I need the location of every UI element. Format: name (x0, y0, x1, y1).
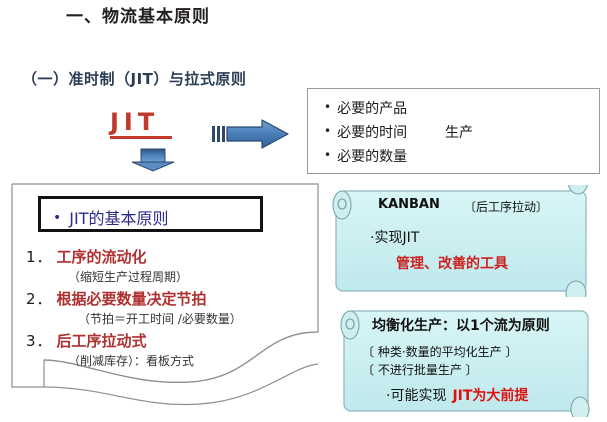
jit-underline (110, 136, 172, 139)
principle-item-2: 2．根据必要数量决定节拍 (26, 288, 207, 309)
leveled-production-box: 均衡化生产：以1个流为原则 〔 种类·数量的平均化生产 〕 〔 不进行批量生产 … (334, 305, 594, 417)
requirement-item: •必要的产品 (324, 98, 407, 118)
production-label: 生产 (445, 122, 473, 142)
jit-basic-principle-box: •JIT的基本原则 (38, 196, 263, 232)
leveled-production-bracket-2: 〔 不进行批量生产 〕 (362, 361, 478, 378)
requirement-item: •必要的数量 (324, 146, 407, 166)
jit-principles-document: •JIT的基本原则 1．工序的流动化 （缩短生产过程周期） 2．根据必要数量决定… (10, 182, 320, 412)
jit-basic-principle-label: •JIT的基本原则 (53, 205, 168, 229)
kanban-title: KANBAN (378, 197, 440, 212)
kanban-line-1: ·实现JIT (370, 227, 419, 247)
principle-note-1: （缩短生产过程周期） (68, 268, 188, 285)
principle-item-1: 1．工序的流动化 (26, 246, 147, 267)
bullet-icon: • (324, 100, 331, 114)
principle-item-3: 3．后工序拉动式 (26, 330, 147, 351)
principle-note-3: （削减库存）：看板方式 (68, 352, 194, 369)
leveled-production-title: 均衡化生产：以1个流为原则 (372, 315, 550, 335)
slide-canvas: 一、物流基本原则 （一）准时制（JIT）与拉式原则 JIT (0, 0, 607, 422)
kanban-box: KANBAN 〔后工序拉动〕 ·实现JIT 管理、改善的工具 (326, 185, 594, 297)
page-title: 一、物流基本原则 (66, 2, 210, 27)
bullet-icon: • (324, 148, 331, 162)
bullet-icon: • (324, 124, 331, 138)
principle-note-2: （节拍＝开工时间 /必要数量） (78, 310, 242, 327)
kanban-line-2: 管理、改善的工具 (396, 253, 508, 273)
leveled-production-bracket-1: 〔 种类·数量的平均化生产 〕 (362, 343, 517, 360)
down-flag-icon (130, 148, 176, 172)
right-arrow-icon (212, 118, 290, 150)
requirement-item: •必要的时间 (324, 122, 407, 142)
kanban-subtitle: 〔后工序拉动〕 (464, 198, 548, 215)
jit-logo-text: JIT (110, 108, 159, 136)
requirements-box: •必要的产品 •必要的时间 •必要的数量 生产 (307, 88, 600, 174)
bullet-icon: • (53, 210, 61, 226)
section-subtitle: （一）准时制（JIT）与拉式原则 (22, 68, 246, 89)
leveled-production-conclusion: ·可能实现JIT为大前提 (386, 385, 528, 405)
